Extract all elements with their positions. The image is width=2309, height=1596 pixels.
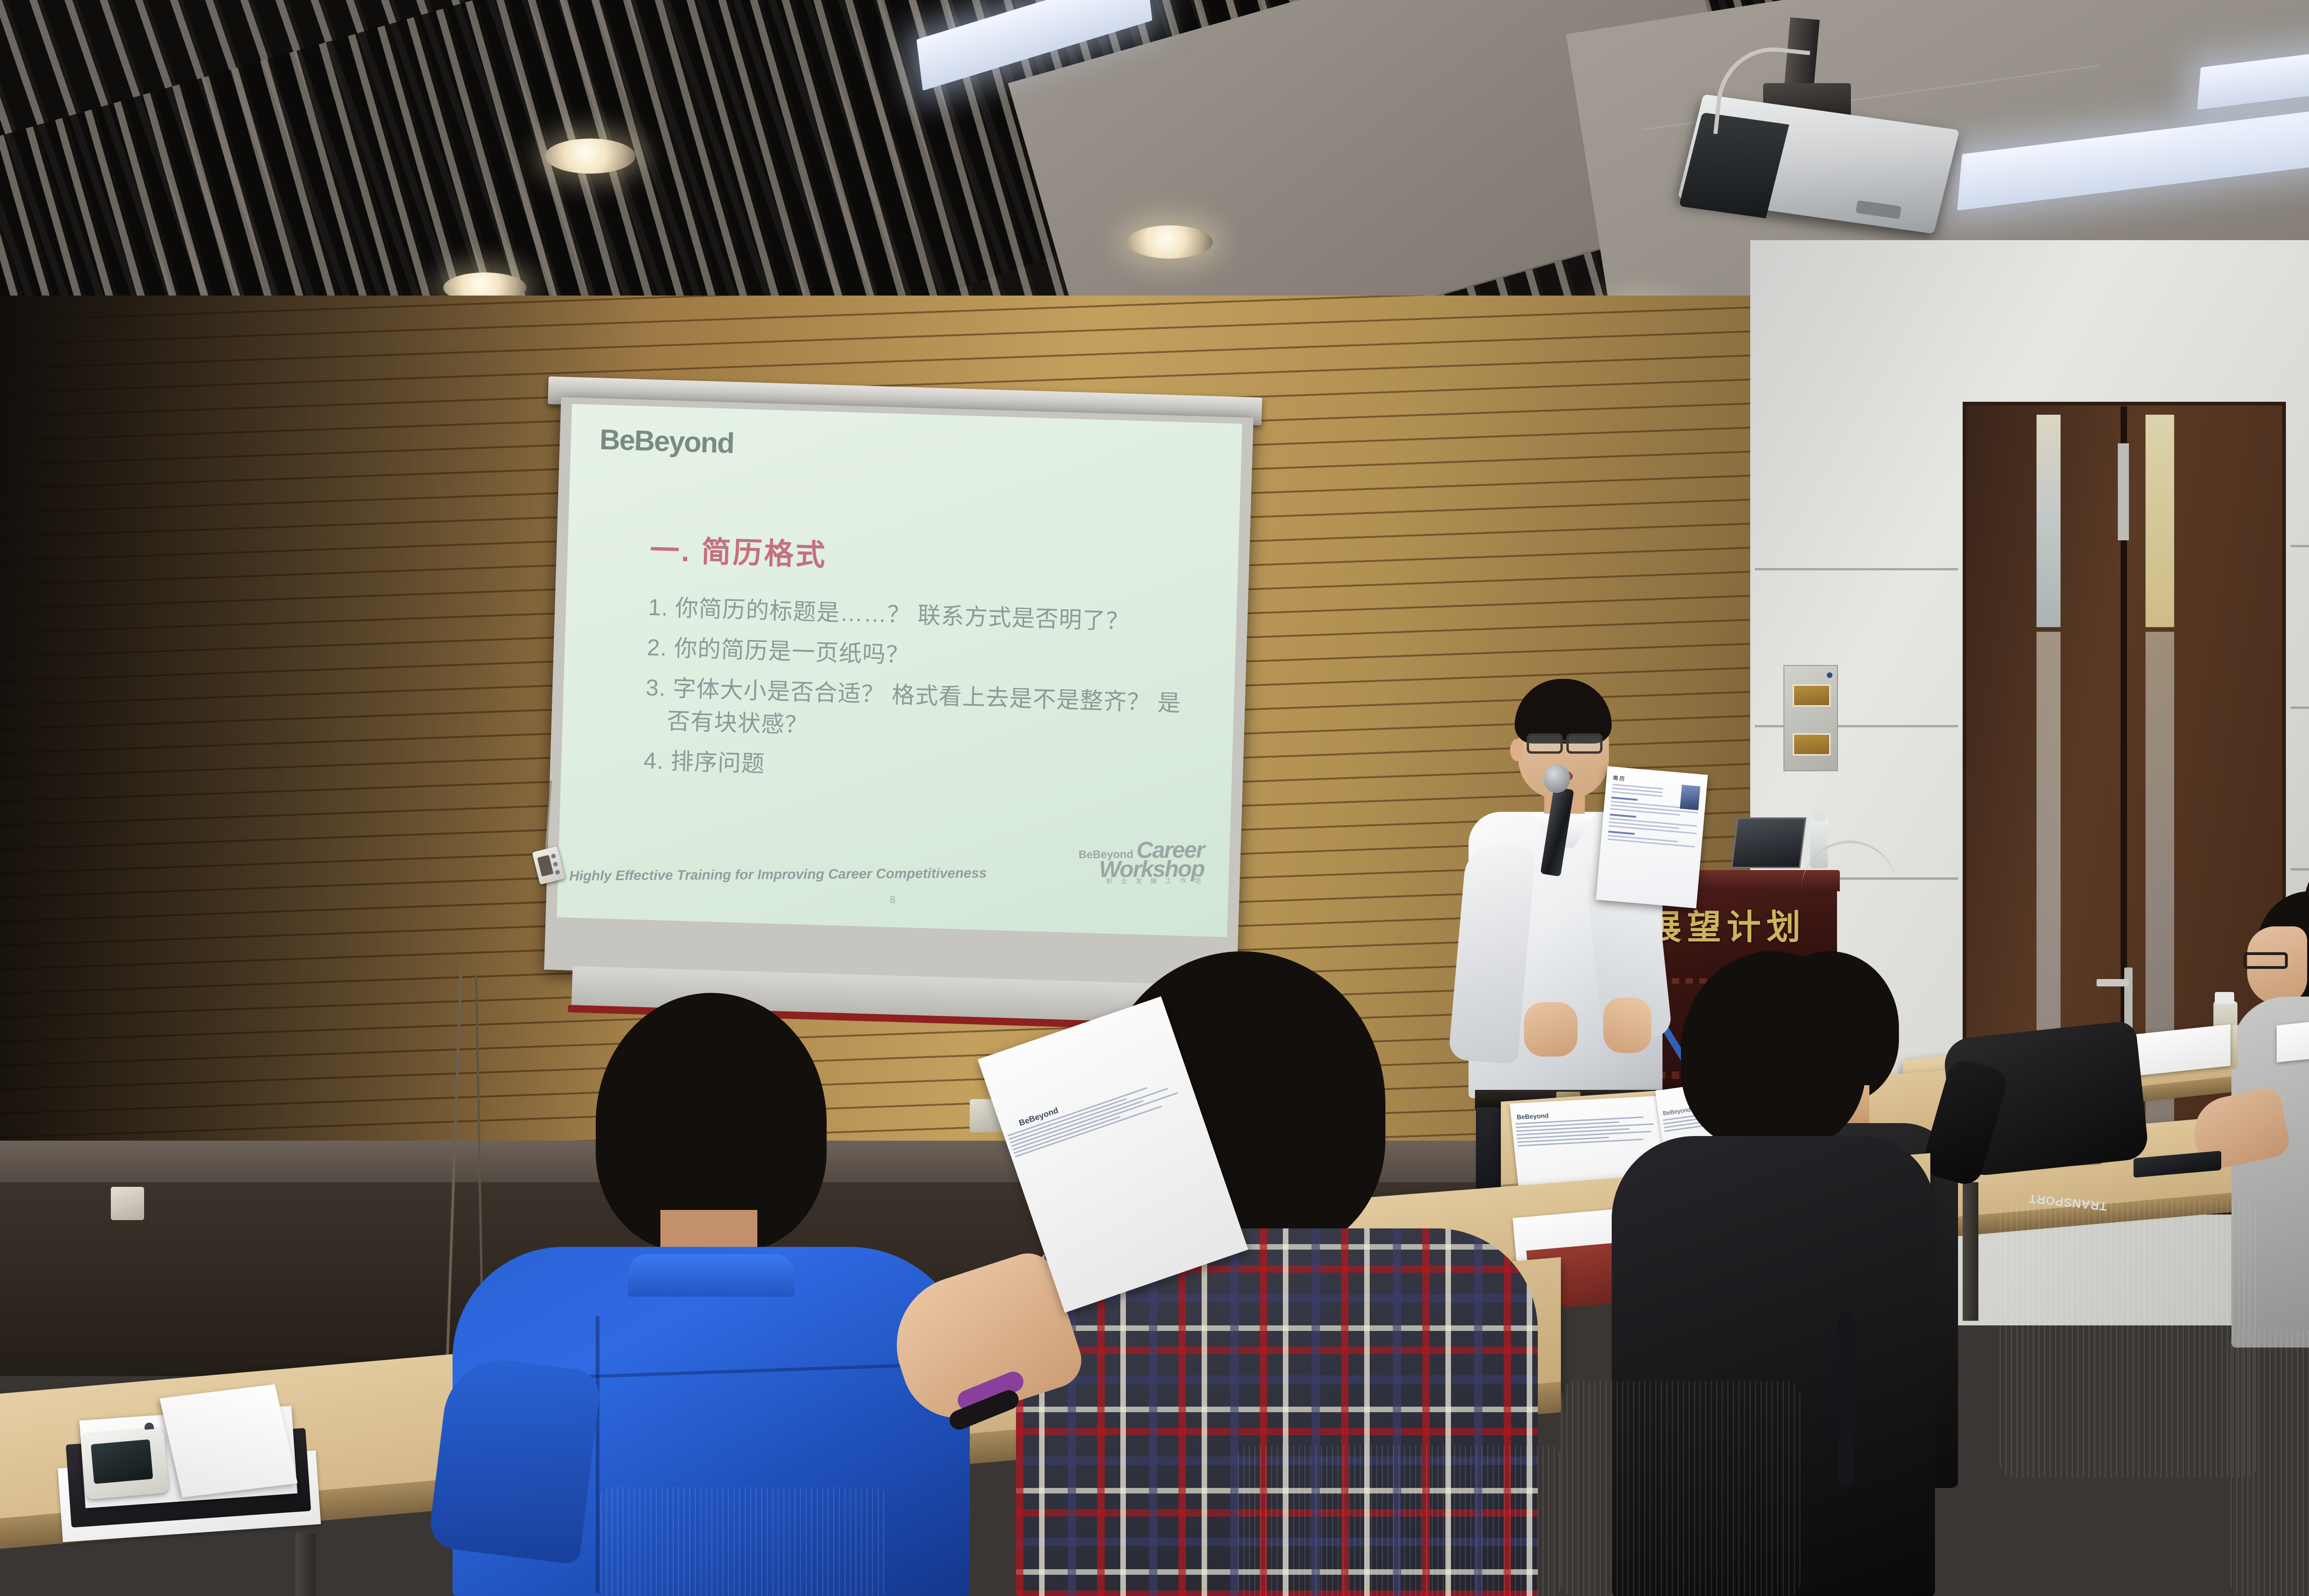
door-glass-panel (2037, 415, 2061, 627)
presenter-laptop[interactable] (1731, 817, 1807, 868)
wall-groove (2291, 707, 2309, 709)
resume-section-heading (1611, 797, 1638, 801)
projector-cable (1713, 42, 1810, 143)
wall-socket[interactable] (111, 1187, 144, 1220)
ceiling-downlight (1127, 225, 1213, 259)
chair[interactable] (2000, 1201, 2258, 1478)
slide-bullet-list: 1. 你简历的标题是……？ 联系方式是否明了？ 2. 你的简历是一页纸吗？ 3.… (643, 591, 1242, 802)
bullet-number: 2. (647, 635, 667, 661)
seminar-room-photo: BeBeyond 一. 简历格式 1. 你简历的标题是……？ 联系方式是否明了？… (0, 0, 2309, 1596)
workshop-logo: BeBeyond Career Workshop 职 业 发 展 工 作 坊 (1079, 840, 1204, 884)
panel-window-lower (1793, 733, 1831, 756)
ceiling-projector (1658, 18, 1981, 236)
door-lever-handle[interactable] (2097, 979, 2129, 986)
door-hinge-plate (2118, 443, 2129, 540)
notebook-page-lifted (160, 1384, 298, 1498)
panel-indicator (1827, 672, 1832, 678)
wall-groove (1755, 568, 1958, 570)
chair[interactable] (1238, 1445, 1561, 1596)
device-screen (91, 1439, 153, 1484)
resume-section-heading (1610, 814, 1636, 818)
bottle-cap (1812, 812, 1826, 821)
eyeglasses-bridge (1560, 740, 1569, 742)
chair-frame (1838, 1312, 1855, 1487)
bullet-number: 3. (646, 675, 666, 701)
jacket-seam (596, 1316, 599, 1593)
wall-groove (2291, 545, 2309, 547)
ceiling-downlight (545, 139, 635, 174)
eyeglasses-left-lens (1527, 733, 1563, 754)
bullet-text: 你的简历是一页纸吗？ (674, 635, 910, 668)
resume-photo (1680, 785, 1700, 810)
resume-sheet: 简 历 (1596, 766, 1708, 908)
workshop-logo-line3: Workshop (1079, 859, 1204, 879)
projected-slide: BeBeyond 一. 简历格式 1. 你简历的标题是……？ 联系方式是否明了？… (557, 404, 1242, 937)
door-glass-panel (2146, 415, 2174, 627)
slide-page-number: 8 (890, 894, 896, 906)
bullet-number: 4. (643, 748, 664, 774)
presenter-ear (1510, 739, 1524, 761)
bullet-number: 1. (648, 594, 669, 621)
jacket-collar (628, 1254, 794, 1297)
resume-section-heading (1608, 831, 1635, 835)
slide-footer-tagline: Highly Effective Training for Improving … (569, 864, 1165, 884)
bottle-cap (2215, 992, 2234, 1004)
panel-window-upper (1793, 684, 1831, 707)
electrical-control-panel[interactable] (1783, 665, 1838, 771)
chair[interactable] (1561, 1381, 1801, 1596)
bullet-text: 排序问题 (670, 748, 765, 777)
eyeglasses-right-lens (1566, 733, 1602, 754)
slide-brand-logo: BeBeyond (599, 423, 734, 460)
slide-bullet-item: 3. 字体大小是否合适？ 格式看上去是不是整齐？ 是 否有块状感？ (644, 671, 1242, 755)
microphone-head (1543, 764, 1570, 793)
chair[interactable] (2230, 1330, 2309, 1596)
chair[interactable] (600, 1487, 887, 1596)
slide-title: 一. 简历格式 (649, 526, 828, 574)
bullet-text: 你简历的标题是……？ 联系方式是否明了？ (675, 595, 1130, 635)
attendee-head (1681, 951, 1866, 1150)
attendee-back-right (2277, 854, 2309, 984)
table-leg (296, 1533, 316, 1596)
workshop-logo-line4: 职 业 发 展 工 作 坊 (1079, 878, 1204, 884)
attendee-head (2304, 854, 2309, 951)
projection-screen: BeBeyond 一. 简历格式 1. 你简历的标题是……？ 联系方式是否明了？… (544, 397, 1253, 990)
